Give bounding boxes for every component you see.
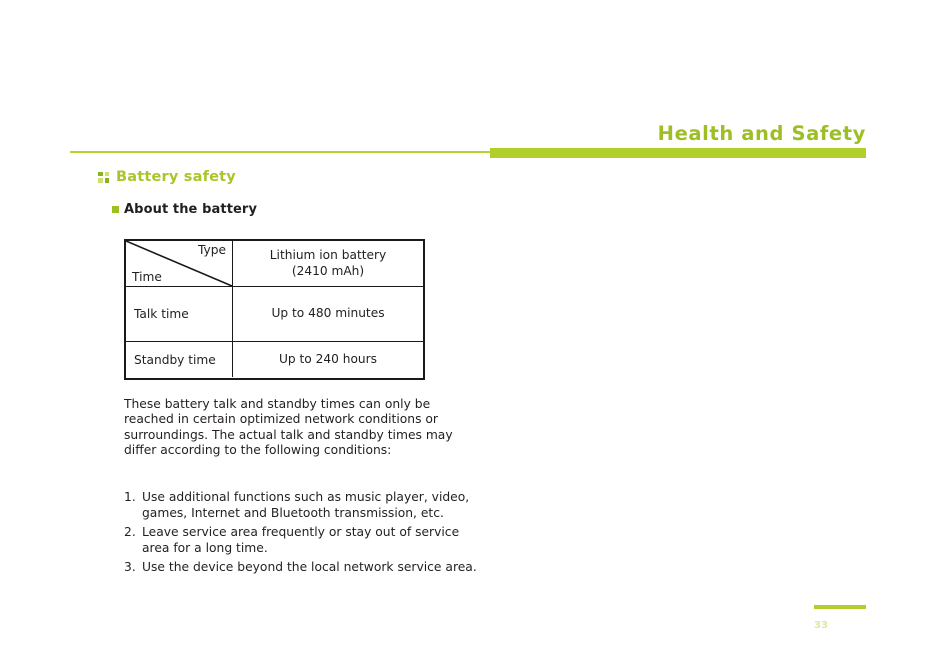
battery-type-line1: Lithium ion battery	[270, 248, 386, 263]
list-item: 2. Leave service area frequently or stay…	[124, 524, 479, 557]
table-cell-talk-time-value: Up to 480 minutes	[232, 287, 423, 341]
battery-times-note: These battery talk and standby times can…	[124, 397, 474, 459]
table-header-type-label: Type	[198, 243, 226, 257]
right-column: 4. Use the device in talk mode repeatedl…	[480, 0, 936, 656]
table-row: Talk time Up to 480 minutes	[126, 286, 423, 341]
page-number: 33	[814, 620, 828, 631]
section-heading-label: Battery safety	[116, 169, 236, 185]
square-bullet-icon	[112, 206, 119, 213]
table-row: Standby time Up to 240 hours	[126, 341, 423, 377]
conditions-list: 1. Use additional functions such as musi…	[124, 489, 479, 577]
table-cell-battery-type: Lithium ion battery (2410 mAh)	[232, 241, 423, 286]
table-cell-standby-time-value: Up to 240 hours	[232, 342, 423, 377]
list-item: 1. Use additional functions such as musi…	[124, 489, 479, 522]
battery-specs-table: Type Time Lithium ion battery (2410 mAh)…	[124, 239, 425, 380]
list-item-number: 3.	[124, 559, 142, 575]
section-heading-battery-safety: Battery safety	[98, 169, 236, 185]
list-item: 3. Use the device beyond the local netwo…	[124, 559, 479, 575]
left-column: Battery safety About the battery Type Ti…	[0, 0, 480, 656]
footer-rule	[814, 605, 866, 609]
list-item-text: Use the device beyond the local network …	[142, 559, 479, 575]
list-item-number: 2.	[124, 524, 142, 557]
battery-type-line2: (2410 mAh)	[292, 264, 364, 279]
table-row: Type Time Lithium ion battery (2410 mAh)	[126, 241, 423, 286]
grid-squares-bullet-icon	[98, 172, 109, 183]
list-item-text: Leave service area frequently or stay ou…	[142, 524, 479, 557]
table-cell-talk-time-label: Talk time	[126, 287, 232, 341]
table-cell-standby-time-label: Standby time	[126, 342, 232, 377]
list-item-number: 1.	[124, 489, 142, 522]
list-item-text: Use additional functions such as music p…	[142, 489, 479, 522]
subsection-heading-label: About the battery	[124, 202, 257, 217]
subsection-heading-about-the-battery: About the battery	[112, 202, 257, 217]
table-header-time-label: Time	[132, 270, 162, 284]
table-header-diagonal-cell: Type Time	[126, 241, 232, 286]
